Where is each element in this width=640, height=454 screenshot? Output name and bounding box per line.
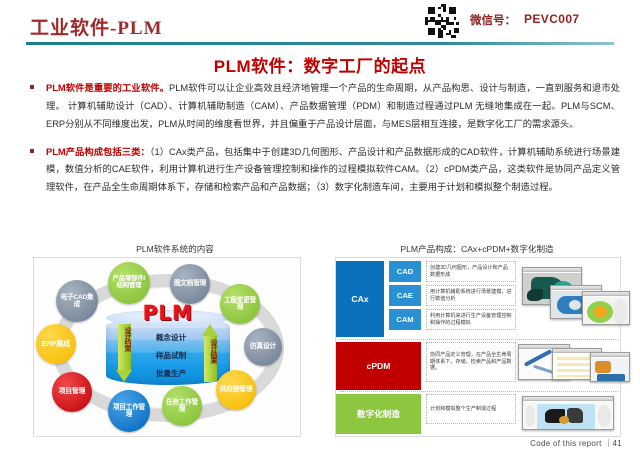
- page-title: 工业软件-PLM: [30, 13, 163, 40]
- design-constraint-arrow-icon: 设计约束: [116, 324, 133, 382]
- plm-node-label: 产品零部件/结构管理: [108, 276, 150, 290]
- plm-node-5: 仿真设计: [244, 328, 282, 366]
- group-row-cax: CAx CAD CAE CAM 创建3D几何图形，产品设计和产品数据形成 用计算…: [336, 261, 622, 337]
- bullet-marker-icon: [30, 85, 34, 89]
- right-diagram-caption: PLM产品构成：CAx+cPDM+数字化制造: [332, 243, 622, 255]
- group-label-cax: CAx: [336, 261, 384, 337]
- plm-node-label: 项目管理: [56, 388, 88, 395]
- desc-cam: 利用计算机来进行生产设备管理控制和操作的过程模拟: [426, 309, 516, 330]
- plm-node-6: 供应链管理: [216, 370, 256, 410]
- sub-item-cam: CAM: [389, 309, 421, 330]
- lifecycle-stage: 概念设计: [136, 332, 206, 343]
- left-diagram-caption: PLM软件系统的内容: [30, 243, 320, 255]
- plm-node-label: ERP集成: [39, 340, 73, 348]
- footer-text: Code of this report ｜41: [530, 438, 622, 449]
- bullet-item: PLM产品构成包括三类：（1）CAx类产品，包括集中于创建3D几何图形、产品设计…: [24, 144, 620, 198]
- desc-cae: 用计算机辅助系统进行场景建模，进行数值分析: [426, 285, 516, 306]
- sub-item-cad: CAD: [389, 261, 421, 282]
- group-row-cpdm: cPDM 协同产品定义管理，在产品全生命周期体系下，存储、检索产品和产品数据。: [336, 342, 622, 390]
- design-constraint-label: 设计约束: [119, 327, 131, 351]
- row-divider: [340, 391, 618, 392]
- plm-node-10: ERP集成: [36, 324, 76, 364]
- lifecycle-stage: 样品试制: [136, 350, 206, 361]
- bullet-item: PLM软件是重要的工业软件。PLM软件可以让企业高效且经济地管理一个产品的生命周…: [24, 80, 620, 134]
- cam-thumbnail: [582, 291, 630, 325]
- plm-node-1: 电子CAD集成: [56, 280, 98, 322]
- plm-node-label: 仿真设计: [247, 343, 279, 350]
- lifecycle-stage: 批量生产: [136, 368, 206, 379]
- group-label-cpdm: cPDM: [336, 342, 421, 390]
- qr-code-icon: [425, 4, 459, 38]
- plm-node-4: 工程变更管理: [220, 284, 260, 324]
- plm-node-3: 图文档管理: [170, 264, 210, 304]
- plm-node-8: 项目工作管理: [108, 390, 150, 432]
- slide-title: PLM软件：数字工厂的起点: [0, 52, 640, 77]
- plm-circle-diagram: 设计约束 设计结果 概念设计 样品试制 批量生产 PLM 电子CAD集成产品零部…: [33, 257, 301, 437]
- slide-root: 工业软件-PLM 微信号： PEVC007 PLM软件：数字工厂的起点 PLM软…: [0, 0, 640, 454]
- bullet-marker-icon: [30, 149, 34, 153]
- wechat-label: 微信号：: [470, 12, 516, 28]
- desc-digital-manufacturing: 计划和模拟整个生产制造过程: [426, 394, 516, 424]
- header-divider: [26, 42, 614, 45]
- sub-item-cae: CAE: [389, 285, 421, 306]
- cax-sub-list: CAD CAE CAM: [384, 261, 421, 337]
- plm-node-label: 项目工作管理: [108, 404, 150, 418]
- bullet-list: PLM软件是重要的工业软件。PLM软件可以让企业高效且经济地管理一个产品的生命周…: [24, 80, 620, 207]
- desc-cpdm: 协同产品定义管理，在产品全生命周期体系下，存储、检索产品和产品数据。: [426, 342, 516, 382]
- plm-node-label: 电子CAD集成: [56, 294, 98, 308]
- plm-node-label: 任务工作管理: [162, 399, 202, 413]
- plm-node-label: 图文档管理: [171, 280, 209, 287]
- wechat-id-value: PEVC007: [524, 12, 580, 26]
- slide-header: 工业软件-PLM 微信号： PEVC007: [0, 0, 640, 46]
- cax-desc-list: 创建3D几何图形，产品设计和产品数据形成 用计算机辅助系统进行场景建模，进行数值…: [421, 261, 516, 337]
- dm-desc-list: 计划和模拟整个生产制造过程: [421, 394, 516, 434]
- bullet-lead: PLM软件是重要的工业软件。: [46, 83, 169, 93]
- group-row-digital-manufacturing: 数字化制造 计划和模拟整个生产制造过程: [336, 394, 622, 434]
- plm-node-label: 工程变更管理: [220, 297, 260, 311]
- plm-node-9: 项目管理: [52, 372, 92, 412]
- bullet-lead: PLM产品构成包括三类：: [46, 147, 150, 157]
- plm-logo-text: PLM: [106, 301, 230, 325]
- plm-cylinder: 设计约束 设计结果 概念设计 样品试制 批量生产 PLM: [106, 310, 230, 392]
- plm-node-2: 产品零部件/结构管理: [108, 262, 150, 304]
- cpdm-desc-list: 协同产品定义管理，在产品全生命周期体系下，存储、检索产品和产品数据。: [421, 342, 516, 390]
- plm-node-label: 供应链管理: [217, 386, 256, 393]
- desc-cad: 创建3D几何图形，产品设计和产品数据形成: [426, 261, 516, 282]
- design-result-label: 设计结果: [205, 339, 217, 363]
- row-divider: [340, 339, 618, 340]
- dm-thumbnail: [522, 396, 614, 430]
- cpdm-thumbnail-3: [590, 352, 630, 382]
- cpdm-thumbnails: [516, 342, 622, 390]
- dm-thumbnails: [516, 394, 622, 434]
- cax-thumbnails: [516, 261, 622, 337]
- group-label-digital-manufacturing: 数字化制造: [336, 394, 421, 434]
- plm-node-7: 任务工作管理: [162, 386, 202, 426]
- plm-composition-diagram: CAx CAD CAE CAM 创建3D几何图形，产品设计和产品数据形成 用计算…: [335, 257, 621, 437]
